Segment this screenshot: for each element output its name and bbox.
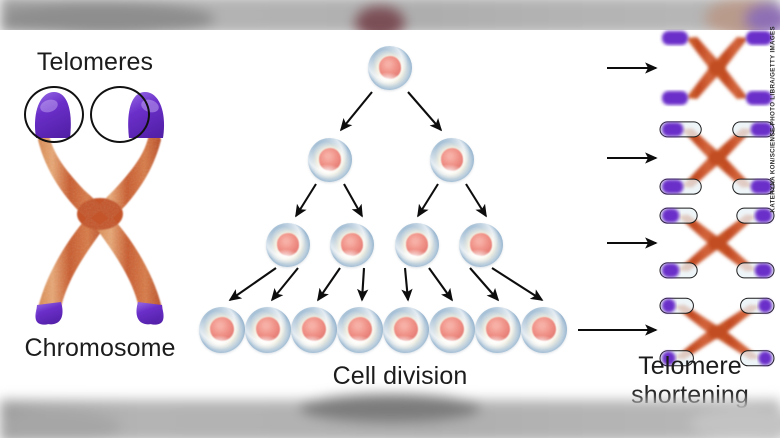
chromosome-step [658,203,776,283]
label-chromosome: Chromosome [0,334,200,363]
photo-credit-text: KATERYNA KON/SCIENCE PHOTO LIBRA/GETTY I… [769,26,776,213]
cell [266,223,310,267]
cell-sheen [373,72,400,87]
chromosome-step [658,28,776,108]
cell [383,307,429,353]
cell-sheen [464,249,491,264]
cell [291,307,337,353]
cell [395,223,439,267]
cell-sheen [435,335,464,351]
bottom-letterbox-band [0,400,780,438]
cell-sheen [251,335,280,351]
label-cell-division: Cell division [240,362,560,391]
cell-sheen [389,335,418,351]
cell [330,223,374,267]
chromosome-step [658,118,776,198]
cell-sheen [205,335,234,351]
cell-sheen [335,249,362,264]
telomere-highlight-ring-left [24,86,84,143]
cell [368,46,412,90]
cell [430,138,474,182]
cell-sheen [343,335,372,351]
cell-sheen [527,335,556,351]
cell-sheen [313,164,340,179]
telomere-highlight-ring-right [90,86,150,143]
figure-canvas: Telomeres Chromosome Cell division Telom… [0,0,780,438]
cell [245,307,291,353]
cell [199,307,245,353]
cell [429,307,475,353]
photo-credit: KATERYNA KON/SCIENCE PHOTO LIBRA/GETTY I… [767,26,779,236]
label-line: Telomere [600,352,780,381]
cell [521,307,567,353]
cell [459,223,503,267]
cell-sheen [271,249,298,264]
cell [337,307,383,353]
cell [475,307,521,353]
cell-sheen [435,164,462,179]
label-telomeres: Telomeres [0,48,190,77]
cell [308,138,352,182]
cell-sheen [297,335,326,351]
cell-sheen [400,249,427,264]
cell-sheen [481,335,510,351]
